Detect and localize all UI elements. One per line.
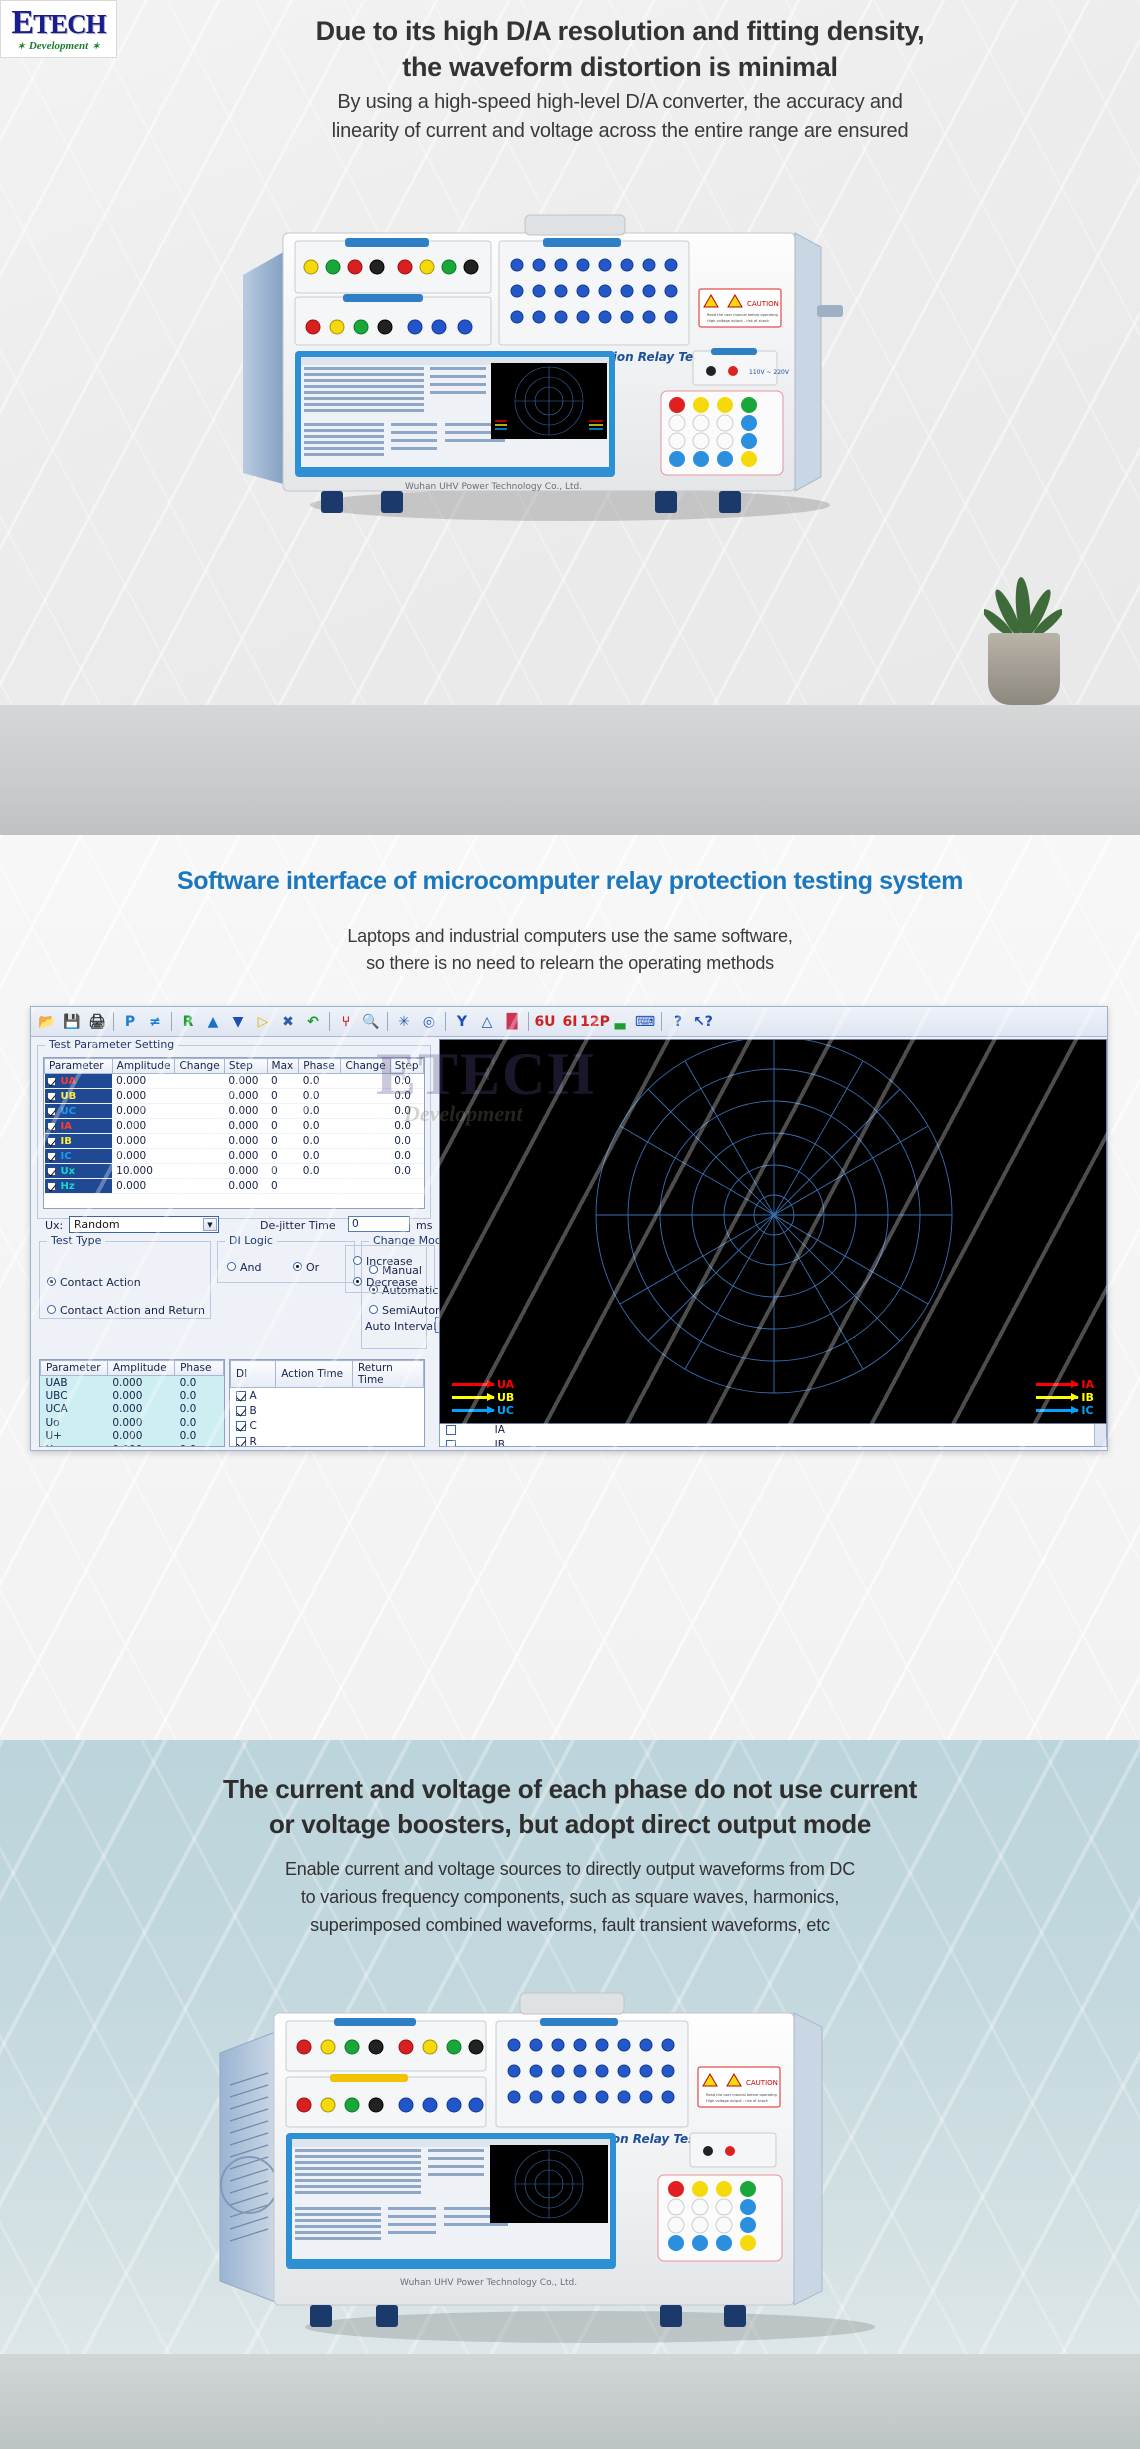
checkbox-icon[interactable] xyxy=(47,1077,56,1086)
result-table[interactable]: ParameterAmplitudePhase UAB0.0000.0UBC0.… xyxy=(40,1360,224,1447)
section1-subtext-line1: By using a high-speed high-level D/A con… xyxy=(150,88,1090,117)
cell-return-time xyxy=(352,1388,423,1404)
scope-legend-voltage: UA UB UC xyxy=(452,1378,514,1417)
up-icon[interactable]: ▲ xyxy=(201,1010,225,1034)
table-row[interactable]: UB0.0000.00000.00.0 xyxy=(45,1089,424,1104)
cell-amplitude: 0.000 xyxy=(107,1403,174,1417)
bars-icon[interactable]: █ xyxy=(500,1010,524,1034)
parameter-label: UB xyxy=(58,1091,77,1102)
toolbar-separator xyxy=(113,1012,114,1031)
result-table-header-row: ParameterAmplitudePhase xyxy=(41,1361,224,1376)
result-col-parameter[interactable]: Parameter xyxy=(41,1361,108,1376)
test-type-option-1-label: Contact Action and Return xyxy=(60,1304,205,1317)
parameter-label: Hz xyxy=(58,1181,75,1192)
di-table-wrapper[interactable]: DIAction TimeReturn Time ABCRabc xyxy=(229,1359,425,1447)
section2-subtext-line2: so there is no need to relearn the opera… xyxy=(170,950,970,977)
stop-icon[interactable]: ✖ xyxy=(276,1010,300,1034)
open-icon[interactable]: 📂 xyxy=(35,1010,59,1034)
cell-step[interactable]: 0.000 xyxy=(224,1119,267,1134)
section3-subtext-line3: superimposed combined waveforms, fault t… xyxy=(120,1912,1020,1940)
cell-phase[interactable]: 0.0 xyxy=(299,1164,341,1179)
radio-icon[interactable] xyxy=(47,1305,56,1314)
section3-heading: The current and voltage of each phase do… xyxy=(70,1772,1070,1842)
parameter-name-cell[interactable]: UA xyxy=(45,1074,113,1089)
checkbox-icon[interactable] xyxy=(47,1107,56,1116)
cell-phase[interactable]: 0.0 xyxy=(299,1134,341,1149)
table-row: UAB0.0000.0 xyxy=(41,1376,224,1390)
cell-max[interactable]: 0 xyxy=(267,1149,299,1164)
device-photo-uhv802-angled: CAUTION Read the user manual before oper… xyxy=(190,1935,950,2355)
svg-text:110V ~ 220V: 110V ~ 220V xyxy=(749,369,790,376)
cell-max[interactable]: 0 xyxy=(267,1089,299,1104)
checkbox-icon[interactable] xyxy=(47,1137,56,1146)
parameter-col-step-7[interactable]: Step xyxy=(390,1059,423,1074)
parameter-name-cell[interactable]: Ux xyxy=(45,1164,113,1179)
print-icon[interactable]: 🖨 xyxy=(85,1010,109,1034)
context-help-icon[interactable]: ↖? xyxy=(691,1010,715,1034)
parameter-table-body[interactable]: UA0.0000.00000.00.0UB0.0000.00000.00.0UC… xyxy=(45,1074,424,1194)
radio-icon[interactable] xyxy=(227,1262,236,1271)
cell-phase[interactable]: 0.0 xyxy=(299,1149,341,1164)
di-label: A xyxy=(250,1390,257,1402)
scope-legend-current: IA IB IC xyxy=(1036,1378,1094,1417)
cell-change[interactable] xyxy=(175,1164,224,1179)
table-row: U+0.0000.0 xyxy=(41,1430,224,1444)
logo-dot-right-icon: ✶ xyxy=(92,42,100,51)
cell-phase: 0.0 xyxy=(175,1416,224,1430)
di-checkbox-cell[interactable]: B xyxy=(231,1403,276,1419)
cell-parameter: IB xyxy=(490,1438,626,1448)
polar-grid xyxy=(440,1040,1107,1424)
cell-step[interactable]: 0.000 xyxy=(224,1104,267,1119)
legend-row-ia: IA xyxy=(1036,1378,1094,1391)
cell-phase: 0.0 xyxy=(175,1443,224,1447)
delta-icon[interactable]: △ xyxy=(475,1010,499,1034)
parameter-col-change-2[interactable]: Change xyxy=(175,1059,224,1074)
cell-amplitude[interactable]: 0.000 xyxy=(112,1104,175,1119)
auto-interval-label: Auto Interval xyxy=(365,1320,436,1333)
cell-max[interactable]: 0 xyxy=(267,1164,299,1179)
table-row[interactable]: Hz0.0000.0000 xyxy=(45,1179,424,1194)
svg-text:Wuhan UHV Power Technology Co.: Wuhan UHV Power Technology Co., Ltd. xyxy=(405,482,582,492)
di-label: B xyxy=(250,1405,257,1417)
legend-row-ub: UB xyxy=(452,1391,514,1404)
cell-step2[interactable] xyxy=(390,1179,423,1194)
waveform-icon[interactable]: ≠ xyxy=(143,1010,167,1034)
di-logic-option-or-label: Or xyxy=(306,1261,319,1274)
direction-option-increase-label: Increase xyxy=(366,1255,413,1268)
di-col-return-time[interactable]: Return Time xyxy=(352,1361,423,1388)
checkbox-icon[interactable] xyxy=(47,1182,56,1191)
cell-step2[interactable]: 0.0 xyxy=(390,1089,423,1104)
radio-icon[interactable] xyxy=(369,1305,378,1314)
cell-change[interactable] xyxy=(175,1179,224,1194)
parameter-label: IC xyxy=(58,1151,72,1162)
test-type-option-0[interactable]: Contact Action xyxy=(47,1271,141,1290)
cell-change2[interactable] xyxy=(341,1164,390,1179)
chevron-down-icon[interactable]: ▼ xyxy=(203,1218,217,1231)
table-row[interactable]: IA xyxy=(441,1422,1106,1438)
parameter-icon[interactable]: P xyxy=(118,1010,142,1034)
cell-amplitude: 0.000 xyxy=(107,1389,174,1403)
arrow-icon xyxy=(1036,1383,1078,1386)
dejitter-label: De-jitter Time xyxy=(260,1219,336,1232)
di-checkbox-cell[interactable]: R xyxy=(231,1434,276,1447)
arrow-icon xyxy=(452,1409,494,1412)
cell-phase: 0.0 xyxy=(175,1376,224,1390)
section3-heading-line1: The current and voltage of each phase do… xyxy=(70,1772,1070,1807)
cell-amplitude[interactable]: 0.000 xyxy=(112,1089,175,1104)
svg-text:Read the user manual before op: Read the user manual before operating xyxy=(706,2093,777,2097)
return-checkbox-cell[interactable] xyxy=(441,1438,490,1448)
cell-change2[interactable] xyxy=(341,1074,390,1089)
cell-step2[interactable]: 0.0 xyxy=(390,1164,423,1179)
cell-step[interactable]: 0.000 xyxy=(224,1149,267,1164)
twelve-p-icon[interactable]: 12P xyxy=(583,1010,607,1034)
cell-amplitude[interactable]: 0.000 xyxy=(112,1119,175,1134)
table-row: Uo0.0000.0 xyxy=(41,1416,224,1430)
cell-step2[interactable]: 0.0 xyxy=(390,1104,423,1119)
cell-max[interactable]: 0 xyxy=(267,1104,299,1119)
cell-parameter: UBC xyxy=(41,1389,108,1403)
parameter-col-max-4[interactable]: Max xyxy=(267,1059,299,1074)
cell-change2[interactable] xyxy=(341,1089,390,1104)
table-row[interactable]: Ux10.0000.00000.00.0 xyxy=(45,1164,424,1179)
cell-max[interactable]: 0 xyxy=(267,1119,299,1134)
cell-parameter: IA xyxy=(490,1422,626,1438)
table-row[interactable]: A xyxy=(231,1388,424,1404)
radio-icon[interactable] xyxy=(47,1277,56,1286)
cell-amplitude: 0.000 xyxy=(107,1443,174,1447)
six-u-icon[interactable]: 6U xyxy=(533,1010,557,1034)
di-label: C xyxy=(250,1420,257,1432)
relay-test-software-window: 📂💾🖨P≠R▲▼▷✖↶⑂🔍✳◎Y△█6U6I12P▃⌨?↖? Test Para… xyxy=(30,1006,1108,1451)
cell-change[interactable] xyxy=(175,1074,224,1089)
cell-amplitude[interactable]: 0.000 xyxy=(112,1179,175,1194)
section2-subtext-line1: Laptops and industrial computers use the… xyxy=(170,923,970,950)
table-row: UBC0.0000.0 xyxy=(41,1389,224,1403)
cell-step[interactable]: 0.000 xyxy=(224,1179,267,1194)
di-checkbox-cell[interactable]: C xyxy=(231,1419,276,1435)
ux-select-value: Random xyxy=(70,1217,218,1232)
cell-phase[interactable]: 0.0 xyxy=(299,1119,341,1134)
di-table[interactable]: DIAction TimeReturn Time ABCRabc xyxy=(230,1360,424,1447)
help-icon[interactable]: ? xyxy=(666,1010,690,1034)
cell-change[interactable] xyxy=(175,1104,224,1119)
reset-icon[interactable]: R xyxy=(176,1010,200,1034)
di-col-di[interactable]: DI xyxy=(231,1361,276,1388)
cell-change2[interactable] xyxy=(341,1119,390,1134)
cell-amplitude: 0.000 xyxy=(107,1430,174,1444)
svg-text:Wuhan UHV Power Technology Co.: Wuhan UHV Power Technology Co., Ltd. xyxy=(400,2278,577,2288)
result-col-amplitude[interactable]: Amplitude xyxy=(107,1361,174,1376)
di-logic-label: DI Logic xyxy=(225,1234,277,1247)
cell-return xyxy=(743,1438,860,1448)
device-photo-uhv802-front: CAUTION Read the user manual before oper… xyxy=(225,155,915,535)
toolbar-separator xyxy=(171,1012,172,1031)
cell-amplitude: 0.000 xyxy=(107,1416,174,1430)
direction-option-decrease[interactable]: Decrease xyxy=(353,1271,418,1290)
checkbox-icon[interactable] xyxy=(446,1425,456,1435)
cell-coefficient xyxy=(860,1438,1106,1448)
cell-action-time xyxy=(276,1388,353,1404)
di-logic-option-and-label: And xyxy=(240,1261,261,1274)
cell-change2[interactable] xyxy=(341,1179,390,1194)
cell-parameter: U+ xyxy=(41,1430,108,1444)
section2-subtext: Laptops and industrial computers use the… xyxy=(170,923,970,977)
cell-step2[interactable]: 0.0 xyxy=(390,1119,423,1134)
di-logic-option-or[interactable]: Or xyxy=(293,1256,319,1275)
legend-row-uc: UC xyxy=(452,1404,514,1417)
svg-text:Read the user manual before op: Read the user manual before operating xyxy=(707,313,778,317)
cell-amplitude[interactable]: 10.000 xyxy=(112,1164,175,1179)
cell-action xyxy=(626,1438,743,1448)
di-table-header-row: DIAction TimeReturn Time xyxy=(231,1361,424,1388)
checkbox-icon[interactable] xyxy=(236,1421,246,1431)
cell-phase[interactable]: 0.0 xyxy=(299,1089,341,1104)
di-checkbox-cell[interactable]: A xyxy=(231,1388,276,1404)
toolbar-separator xyxy=(387,1012,388,1031)
section2-heading: Software interface of microcomputer rela… xyxy=(70,867,1070,896)
toolbar-separator xyxy=(329,1012,330,1031)
parameter-label: Ux xyxy=(58,1166,76,1177)
table-row[interactable]: IB xyxy=(441,1438,1106,1448)
cell-step[interactable]: 0.000 xyxy=(224,1089,267,1104)
table-row[interactable]: IC0.0000.00000.00.0 xyxy=(45,1149,424,1164)
vector-scope-display: UA UB UC IA IB xyxy=(439,1039,1107,1424)
legend-label-uc: UC xyxy=(497,1404,514,1417)
direction-option-decrease-label: Decrease xyxy=(366,1276,418,1289)
toolbar-separator xyxy=(445,1012,446,1031)
cell-change2[interactable] xyxy=(341,1149,390,1164)
cell-phase: 0.0 xyxy=(175,1389,224,1403)
floor-surface xyxy=(0,705,1140,835)
logo-dot-left-icon: ✶ xyxy=(17,42,25,51)
cell-action-time xyxy=(276,1419,353,1435)
result-table-body: UAB0.0000.0UBC0.0000.0UCA0.0000.0Uo0.000… xyxy=(41,1376,224,1448)
parameter-col-phase-5[interactable]: Phase xyxy=(299,1059,341,1074)
cell-phase: 0.0 xyxy=(175,1430,224,1444)
cell-amplitude[interactable]: 0.000 xyxy=(112,1134,175,1149)
logo-tagline-text: Development xyxy=(29,41,88,52)
table-row: UCA0.0000.0 xyxy=(41,1403,224,1417)
checkbox-icon[interactable] xyxy=(47,1122,56,1131)
parameter-name-cell[interactable]: UC xyxy=(45,1104,113,1119)
return-checkbox-cell[interactable] xyxy=(441,1422,490,1438)
dejitter-unit: ms xyxy=(416,1219,432,1232)
cell-parameter: UCA xyxy=(41,1403,108,1417)
table-row[interactable]: B xyxy=(231,1403,424,1419)
section1-subtext: By using a high-speed high-level D/A con… xyxy=(150,88,1090,146)
target-icon[interactable]: ◎ xyxy=(417,1010,441,1034)
cell-return-time xyxy=(352,1403,423,1419)
toolbar-separator xyxy=(528,1012,529,1031)
legend-label-ub: UB xyxy=(497,1391,514,1404)
checkbox-icon[interactable] xyxy=(47,1092,56,1101)
cell-amplitude: 0.000 xyxy=(107,1376,174,1390)
cell-change[interactable] xyxy=(175,1089,224,1104)
logo-wordmark: ETECH xyxy=(11,6,105,40)
software-toolbar[interactable]: 📂💾🖨P≠R▲▼▷✖↶⑂🔍✳◎Y△█6U6I12P▃⌨?↖? xyxy=(31,1007,1107,1037)
cell-action-time xyxy=(276,1434,353,1447)
wye-icon[interactable]: Y xyxy=(450,1010,474,1034)
cell-change[interactable] xyxy=(175,1119,224,1134)
cell-phase: 0.0 xyxy=(175,1403,224,1417)
six-i-icon[interactable]: 6I xyxy=(558,1010,582,1034)
section3-subtext-line2: to various frequency components, such as… xyxy=(120,1884,1020,1912)
svg-text:High voltage output - risk of: High voltage output - risk of shock xyxy=(707,319,770,323)
cell-action xyxy=(626,1422,743,1438)
checkbox-icon[interactable] xyxy=(446,1440,456,1447)
ux-select[interactable]: Random ▼ xyxy=(69,1216,219,1233)
parameter-label: UA xyxy=(58,1076,77,1087)
parameter-name-cell[interactable]: UB xyxy=(45,1089,113,1104)
logo-tagline: ✶ Development ✶ xyxy=(17,41,99,52)
cell-phase[interactable]: 0.0 xyxy=(299,1104,341,1119)
cell-max[interactable]: 0 xyxy=(267,1074,299,1089)
snowflake-icon[interactable]: ✳ xyxy=(392,1010,416,1034)
cell-parameter: UAB xyxy=(41,1376,108,1390)
checkbox-icon[interactable] xyxy=(236,1406,246,1416)
cell-parameter: U- xyxy=(41,1443,108,1447)
di-logic-option-and[interactable]: And xyxy=(227,1256,261,1275)
cell-phase[interactable] xyxy=(299,1179,341,1194)
toolbar-separator xyxy=(661,1012,662,1031)
di-table-body[interactable]: ABCRabc xyxy=(231,1388,424,1448)
cell-phase[interactable]: 0.0 xyxy=(299,1074,341,1089)
harmonic-icon[interactable]: ▃ xyxy=(608,1010,632,1034)
parameter-col-step-3[interactable]: Step xyxy=(224,1059,267,1074)
save-icon[interactable]: 💾 xyxy=(60,1010,84,1034)
legend-row-ua: UA xyxy=(452,1378,514,1391)
parameter-name-cell[interactable]: Hz xyxy=(45,1179,113,1194)
section-direct-output-mode: The current and voltage of each phase do… xyxy=(0,1740,1140,2449)
arrow-icon xyxy=(452,1396,494,1399)
test-type-label: Test Type xyxy=(47,1234,105,1247)
ux-label: Ux: xyxy=(45,1219,63,1232)
section-software-interface: Software interface of microcomputer rela… xyxy=(0,835,1140,1740)
cell-return xyxy=(743,1422,860,1438)
cell-action-time xyxy=(276,1403,353,1419)
result-table-wrapper[interactable]: ParameterAmplitudePhase UAB0.0000.0UBC0.… xyxy=(39,1359,225,1447)
section-high-da-resolution: ETECH ✶ Development ✶ Due to its high D/… xyxy=(0,0,1140,835)
logo-letters-tech: TECH xyxy=(33,11,106,38)
section1-heading-line2: the waveform distortion is minimal xyxy=(120,50,1120,86)
zoom-icon[interactable]: 🔍 xyxy=(359,1010,383,1034)
legend-row-ic: IC xyxy=(1036,1404,1094,1417)
checkbox-icon[interactable] xyxy=(47,1167,56,1176)
section1-heading-line1: Due to its high D/A resolution and fitti… xyxy=(120,14,1120,50)
cell-change[interactable] xyxy=(175,1134,224,1149)
parameter-table[interactable]: ParameterAmplitudeChangeStepMaxPhaseChan… xyxy=(44,1058,424,1194)
floor-surface-3 xyxy=(0,2354,1140,2449)
section3-heading-line2: or voltage boosters, but adopt direct ou… xyxy=(70,1807,1070,1842)
cell-return-time xyxy=(352,1434,423,1447)
parameter-grid[interactable]: ParameterAmplitudeChangeStepMaxPhaseChan… xyxy=(43,1057,425,1209)
checkbox-icon[interactable] xyxy=(236,1437,246,1447)
cell-max[interactable]: 0 xyxy=(267,1134,299,1149)
table-row[interactable]: IB0.0000.00000.00.0 xyxy=(45,1134,424,1149)
parameter-name-cell[interactable]: IB xyxy=(45,1134,113,1149)
checkbox-icon[interactable] xyxy=(47,1152,56,1161)
table-row[interactable]: UC0.0000.00000.00.0 xyxy=(45,1104,424,1119)
vector-icon[interactable]: ⑂ xyxy=(334,1010,358,1034)
dejitter-input[interactable]: 0 xyxy=(348,1216,410,1232)
parameter-col-change-6[interactable]: Change xyxy=(341,1059,390,1074)
cell-step[interactable]: 0.000 xyxy=(224,1164,267,1179)
parameter-label: IA xyxy=(58,1121,72,1132)
section1-heading: Due to its high D/A resolution and fitti… xyxy=(120,14,1120,85)
table-row: U-0.0000.0 xyxy=(41,1443,224,1447)
checkbox-icon[interactable] xyxy=(236,1391,246,1401)
cell-change[interactable] xyxy=(175,1149,224,1164)
arrow-icon xyxy=(452,1383,494,1386)
radio-icon[interactable] xyxy=(293,1262,302,1271)
svg-text:CAUTION: CAUTION xyxy=(747,300,779,308)
plant-pot xyxy=(988,633,1060,705)
etech-logo: ETECH ✶ Development ✶ xyxy=(0,0,117,58)
cell-parameter: Uo xyxy=(41,1416,108,1430)
svg-text:High voltage output - risk of: High voltage output - risk of shock xyxy=(706,2099,769,2103)
direction-option-increase[interactable]: Increase xyxy=(353,1250,413,1269)
svg-text:CAUTION: CAUTION xyxy=(746,2079,778,2087)
cell-step2[interactable]: 0.0 xyxy=(390,1134,423,1149)
parameter-label: UC xyxy=(58,1106,76,1117)
table-row[interactable]: R xyxy=(231,1434,424,1447)
cell-return-time xyxy=(352,1419,423,1435)
parameter-col-amplitude-1[interactable]: Amplitude xyxy=(112,1059,175,1074)
parameter-name-cell[interactable]: IA xyxy=(45,1119,113,1134)
table-row[interactable]: IA0.0000.00000.00.0 xyxy=(45,1119,424,1134)
legend-label-ua: UA xyxy=(497,1378,514,1391)
cell-step[interactable]: 0.000 xyxy=(224,1074,267,1089)
result-col-phase[interactable]: Phase xyxy=(175,1361,224,1376)
play-icon[interactable]: ▷ xyxy=(251,1010,275,1034)
radio-icon[interactable] xyxy=(353,1277,362,1286)
radio-icon[interactable] xyxy=(353,1256,362,1265)
test-type-option-1[interactable]: Contact Action and Return xyxy=(47,1299,205,1318)
cell-step[interactable]: 0.000 xyxy=(224,1134,267,1149)
cell-step2[interactable]: 0.0 xyxy=(390,1149,423,1164)
cell-amplitude[interactable]: 0.000 xyxy=(112,1149,175,1164)
legend-label-ic: IC xyxy=(1081,1404,1093,1417)
arrow-icon xyxy=(1036,1409,1078,1412)
legend-row-ib: IB xyxy=(1036,1391,1094,1404)
test-parameter-setting-label: Test Parameter Setting xyxy=(45,1038,178,1051)
di-label: R xyxy=(250,1436,257,1447)
logo-letter-e: E xyxy=(11,6,33,40)
legend-label-ib: IB xyxy=(1081,1391,1093,1404)
parameter-col-parameter-0[interactable]: Parameter xyxy=(45,1059,113,1074)
di-col-action-time[interactable]: Action Time xyxy=(276,1361,353,1388)
undo-icon[interactable]: ↶ xyxy=(301,1010,325,1034)
down-icon[interactable]: ▼ xyxy=(226,1010,250,1034)
cell-amplitude[interactable]: 0.000 xyxy=(112,1074,175,1089)
table-row[interactable]: UA0.0000.00000.00.0 xyxy=(45,1074,424,1089)
cell-change2[interactable] xyxy=(341,1134,390,1149)
cell-change2[interactable] xyxy=(341,1104,390,1119)
test-type-option-0-label: Contact Action xyxy=(60,1276,141,1289)
cell-max[interactable]: 0 xyxy=(267,1179,299,1194)
table-row[interactable]: C xyxy=(231,1419,424,1435)
parameter-table-header-row: ParameterAmplitudeChangeStepMaxPhaseChan… xyxy=(45,1059,424,1074)
arrow-icon xyxy=(1036,1396,1078,1399)
parameter-label: IB xyxy=(58,1136,72,1147)
keyboard-icon[interactable]: ⌨ xyxy=(633,1010,657,1034)
cell-coefficient xyxy=(860,1422,1106,1438)
parameter-name-cell[interactable]: IC xyxy=(45,1149,113,1164)
cell-step2[interactable]: 0.0 xyxy=(390,1074,423,1089)
